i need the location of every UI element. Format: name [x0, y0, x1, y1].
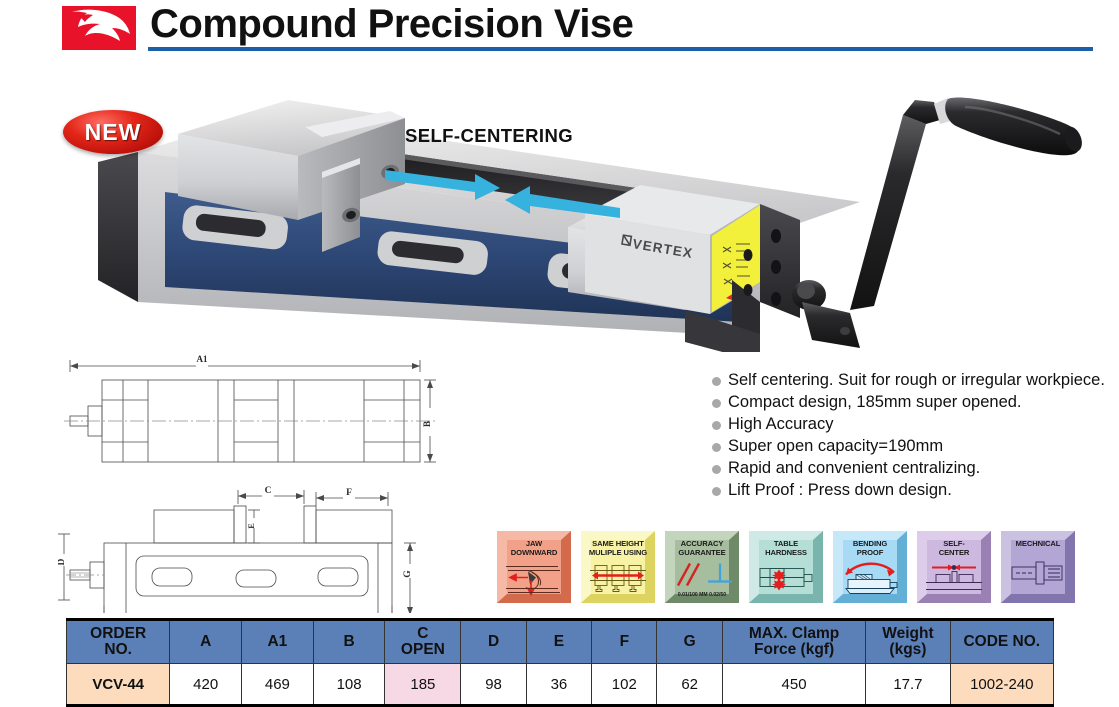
cell-a: 420 [170, 664, 242, 706]
feature-badge-row: JAW DOWNWARD [497, 531, 1112, 603]
badge-mechnical: MECHNICAL [1001, 531, 1075, 603]
svg-text:F: F [346, 488, 352, 498]
header-line: C OPEN [401, 625, 445, 658]
cell-a1: 469 [242, 664, 314, 706]
list-item: High Accuracy [712, 414, 1112, 435]
cell-code-no: 1002-240 [950, 664, 1053, 706]
table-header-row: ORDER NO. A A1 B C OPEN D E F G MAX. Cla… [67, 620, 1054, 664]
col-header-weight: Weight (kgs) [866, 620, 950, 664]
header-line: E [554, 633, 564, 650]
cell-b: 108 [313, 664, 385, 706]
feature-text: Lift Proof : Press down design. [728, 480, 952, 501]
feature-text: Self centering. Suit for rough or irregu… [728, 370, 1105, 391]
badge-label: MECHNICAL [1016, 539, 1061, 548]
list-item: Compact design, 185mm super opened. [712, 392, 1112, 413]
bullet-icon [712, 465, 721, 474]
mechnical-icon [1006, 548, 1070, 598]
title-underline [148, 47, 1093, 51]
accuracy-guarantee-icon [670, 557, 734, 592]
col-header-b: B [313, 620, 385, 664]
badge-table-hardness: TABLE HARDNESS [749, 531, 823, 603]
badge-label: SELF- CENTER [939, 539, 970, 557]
list-item: Rapid and convenient centralizing. [712, 458, 1112, 479]
cell-f: 102 [592, 664, 657, 706]
cell-c-open: 185 [385, 664, 461, 706]
header-line: Weight (kgs) [882, 625, 933, 658]
bending-proof-icon [838, 557, 902, 598]
new-badge-label: NEW [85, 119, 142, 146]
col-header-a1: A1 [242, 620, 314, 664]
col-header-a: A [170, 620, 242, 664]
badge-same-height-multiple-using: SAME HEIGHT MULIPLE USING [581, 531, 655, 603]
cell-e: 36 [526, 664, 591, 706]
badge-label: BENDING PROOF [853, 539, 887, 557]
cell-d: 98 [461, 664, 526, 706]
bullet-icon [712, 443, 721, 452]
vise-product-photo: VERTEX [60, 52, 1110, 352]
table-row: VCV-44 420 469 108 185 98 36 102 62 450 … [67, 664, 1054, 706]
header-line: B [343, 633, 354, 650]
feature-text: Compact design, 185mm super opened. [728, 392, 1022, 413]
bullet-icon [712, 399, 721, 408]
badge-jaw-downward: JAW DOWNWARD [497, 531, 571, 603]
header-line: MAX. Clamp Force (kgf) [749, 625, 839, 658]
badge-label: ACCURACY GUARANTEE [678, 539, 725, 557]
table-hardness-icon [754, 557, 818, 598]
svg-text:D: D [58, 558, 67, 565]
feature-text: Super open capacity=190mm [728, 436, 943, 457]
new-badge: NEW [63, 110, 163, 154]
badge-self-center: SELF- CENTER [917, 531, 991, 603]
col-header-f: F [592, 620, 657, 664]
badge-bending-proof: BENDING PROOF [833, 531, 907, 603]
bullet-icon [712, 487, 721, 496]
page-header: Compound Precision Vise [0, 0, 1119, 58]
header-line: D [488, 633, 499, 650]
jaw-downward-icon [502, 557, 566, 598]
badge-label: JAW DOWNWARD [511, 539, 557, 557]
cell-max-clamp-force: 450 [722, 664, 865, 706]
technical-drawings: A1 B C [58, 348, 488, 613]
feature-list: Self centering. Suit for rough or irregu… [712, 370, 1112, 502]
product-photo-area: VERTEX [0, 52, 1119, 352]
feature-text: Rapid and convenient centralizing. [728, 458, 980, 479]
col-header-g: G [657, 620, 722, 664]
svg-text:A1: A1 [197, 354, 208, 364]
col-header-d: D [461, 620, 526, 664]
svg-text:B: B [422, 421, 432, 427]
bullet-icon [712, 377, 721, 386]
badge-label: TABLE HARDNESS [765, 539, 807, 557]
svg-text:G: G [403, 570, 413, 578]
page-title: Compound Precision Vise [150, 2, 633, 47]
list-item: Self centering. Suit for rough or irregu… [712, 370, 1112, 391]
self-center-icon [922, 557, 986, 598]
list-item: Lift Proof : Press down design. [712, 480, 1112, 501]
eagle-head-logo-icon [62, 6, 136, 50]
header-line: CODE NO. [963, 633, 1040, 650]
cell-g: 62 [657, 664, 722, 706]
col-header-c-open: C OPEN [385, 620, 461, 664]
cell-order-no: VCV-44 [67, 664, 170, 706]
badge-label: SAME HEIGHT MULIPLE USING [589, 539, 647, 557]
badge-accuracy-guarantee: ACCURACY GUARANTEE 0.01/100 MM 0.02/50 [665, 531, 739, 603]
col-header-order-no: ORDER NO. [67, 620, 170, 664]
col-header-max-clamp-force: MAX. Clamp Force (kgf) [722, 620, 865, 664]
header-line: F [620, 633, 629, 650]
header-line: A [200, 633, 211, 650]
badge-sub-label: 0.01/100 MM 0.02/50 [678, 592, 726, 598]
svg-text:C: C [265, 486, 272, 496]
feature-text: High Accuracy [728, 414, 833, 435]
self-centering-label: SELF-CENTERING [405, 125, 573, 147]
header-line: G [684, 633, 696, 650]
col-header-code-no: CODE NO. [950, 620, 1053, 664]
header-line: ORDER NO. [90, 625, 146, 658]
col-header-e: E [526, 620, 591, 664]
header-line: A1 [267, 633, 287, 650]
same-height-multiple-using-icon [586, 557, 650, 598]
cell-weight: 17.7 [866, 664, 950, 706]
list-item: Super open capacity=190mm [712, 436, 1112, 457]
specification-table: ORDER NO. A A1 B C OPEN D E F G MAX. Cla… [66, 618, 1054, 707]
bullet-icon [712, 421, 721, 430]
svg-text:E: E [247, 523, 256, 528]
